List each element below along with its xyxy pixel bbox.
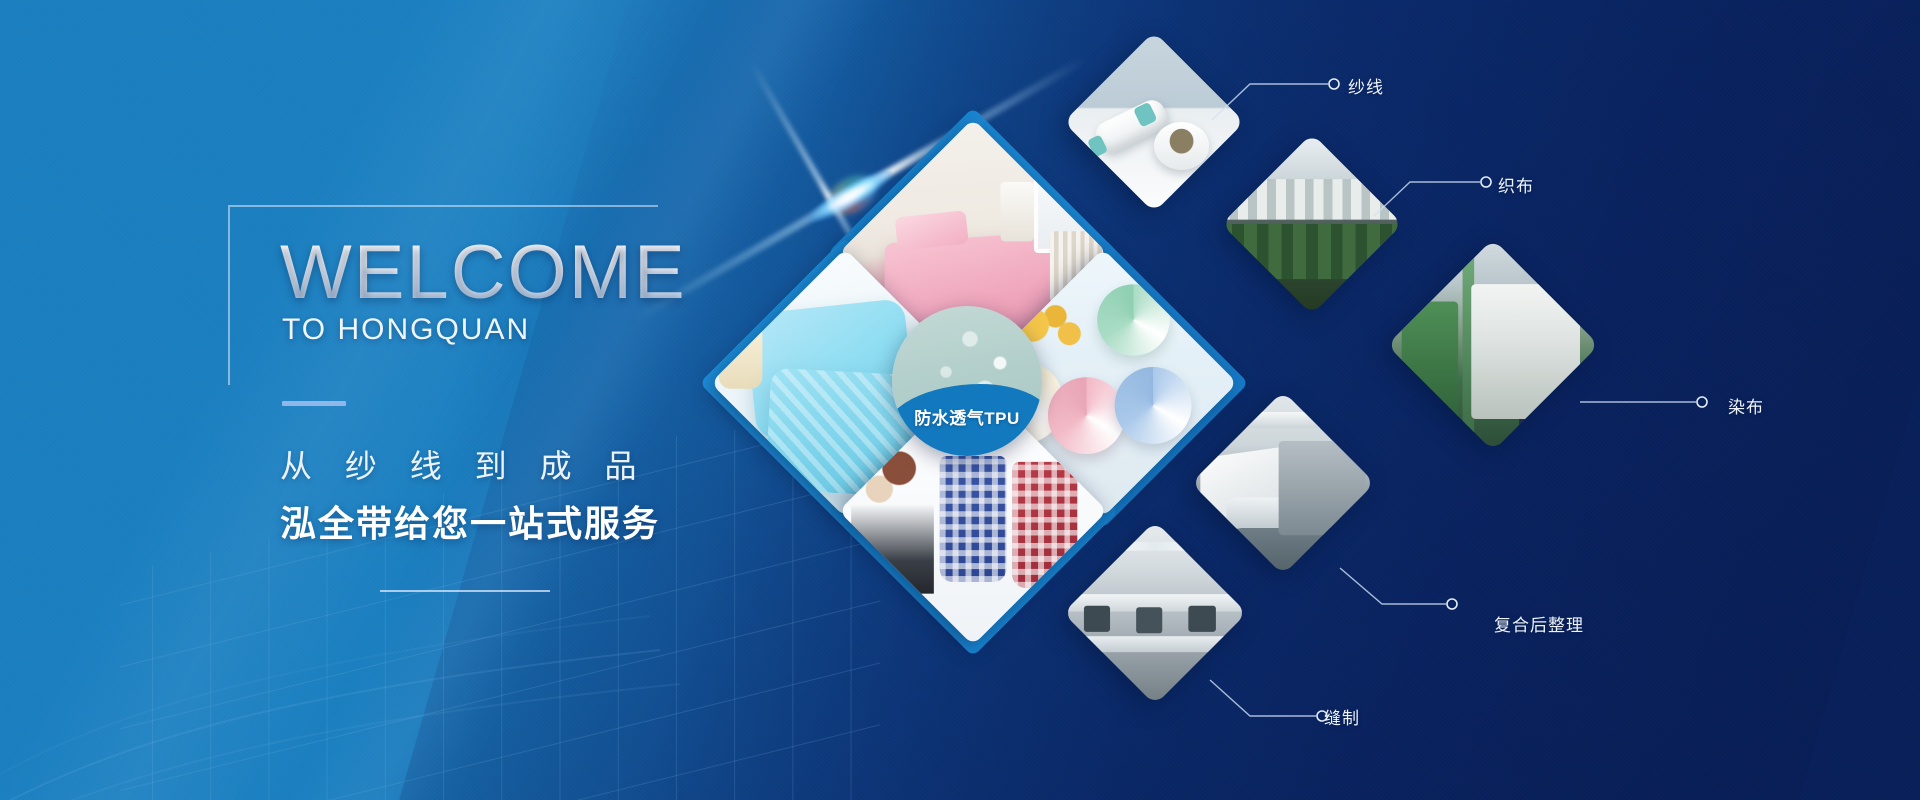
process-step-label-finish: 复合后整理 [1494,611,1584,636]
process-step-dye-image[interactable] [1387,239,1599,451]
circle-node-icon [1481,177,1491,187]
circle-node-icon [1447,599,1457,609]
page-subtitle: TO HONGQUAN [282,315,530,345]
circle-node-icon [1697,397,1707,407]
tpu-badge-label: 防水透气TPU [892,404,1042,429]
circle-node-icon [1329,79,1339,89]
process-step-label-dye: 染布 [1728,393,1764,418]
accent-rule [282,401,346,406]
bottom-rule [380,590,550,592]
connector-sew [1208,672,1388,732]
tagline-cn: 从 纱 线 到 成 品 [280,441,648,487]
headline-cn: 泓全带给您一站式服务 [280,495,660,547]
process-step-label-yarn: 纱线 [1348,73,1384,98]
tpu-badge[interactable]: 防水透气TPU [892,306,1042,456]
light-streak-one [0,0,746,800]
process-step-weave-image[interactable] [1221,133,1402,314]
decorative-swoosh [0,440,720,800]
process-step-label-weave: 织布 [1498,172,1534,197]
connector-finish [1338,560,1518,620]
page-title: WELCOME [280,235,687,311]
process-step-label-sew: 缝制 [1324,704,1360,729]
hero-banner: WELCOME TO HONGQUAN 从 纱 线 到 成 品 泓全带给您一站式… [0,0,1920,800]
